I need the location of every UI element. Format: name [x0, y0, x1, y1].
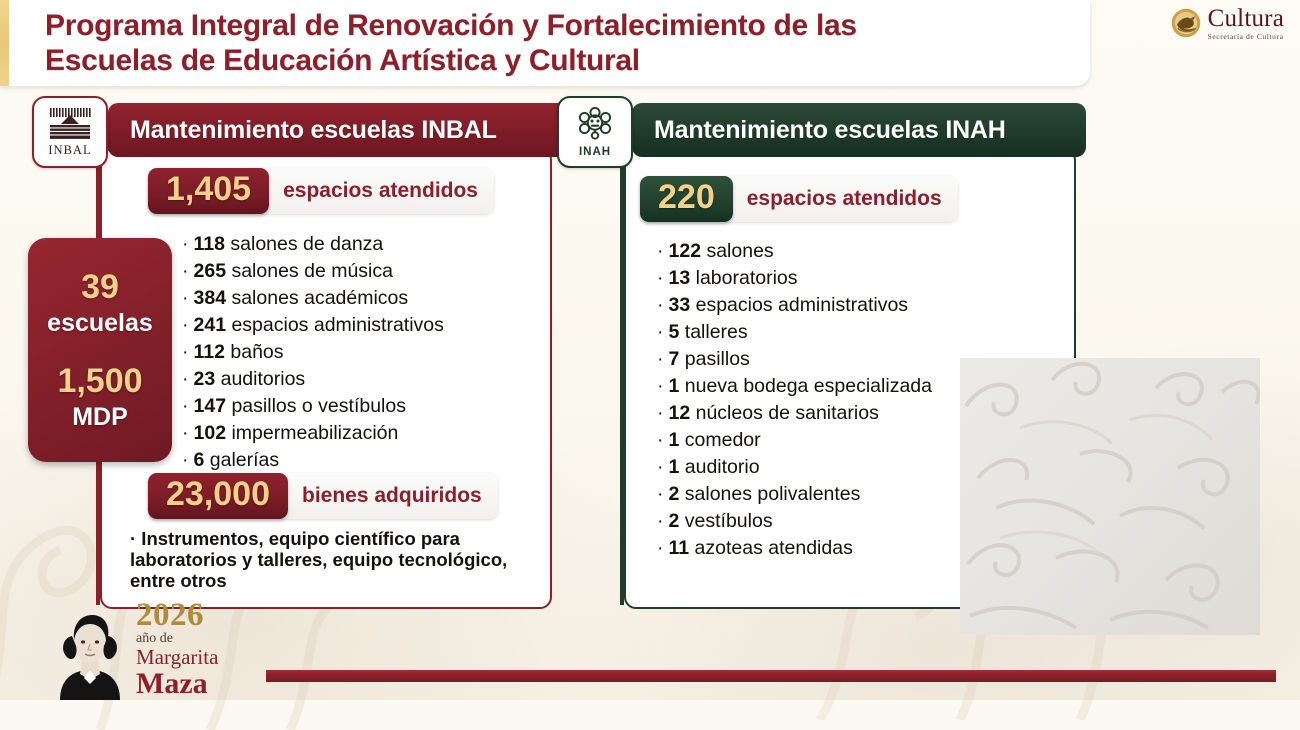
inah-logo-chip: INAH — [557, 96, 633, 168]
page-title-line2: Escuelas de Educación Artística y Cultur… — [45, 43, 857, 78]
bullet-dot-icon: · — [657, 348, 664, 370]
list-item: ·13 laboratorios — [657, 265, 932, 292]
list-item-count: 241 — [194, 314, 227, 336]
bullet-dot-icon: · — [657, 537, 664, 559]
cultura-title: Cultura — [1208, 6, 1284, 31]
margarita-maza-portrait-icon — [52, 608, 128, 700]
inbal-header-label: Mantenimiento escuelas INBAL — [130, 116, 497, 145]
list-item: ·2 vestíbulos — [657, 508, 932, 535]
list-item: ·7 pasillos — [657, 346, 932, 373]
bullet-dot-icon: · — [657, 267, 664, 289]
schools-budget-badge: 39 escuelas 1,500 MDP — [28, 238, 172, 462]
bellas-artes-building-icon — [48, 107, 92, 141]
inah-spaces-value: 220 — [640, 176, 733, 222]
list-item-text: laboratorios — [690, 267, 797, 289]
list-item-count: 265 — [194, 260, 227, 282]
list-item-text: salones académicos — [226, 287, 408, 309]
bullet-dot-icon: · — [657, 375, 664, 397]
inbal-goods-label: bienes adquiridos — [302, 484, 482, 508]
bullet-dot-icon: · — [182, 449, 189, 471]
inbal-goods-stat: 23,000 bienes adquiridos — [148, 473, 498, 519]
year-wordmark: 2026 año de Margarita Maza — [136, 599, 218, 700]
list-item: ·6 galerías — [182, 447, 444, 474]
list-item-text: pasillos — [679, 348, 749, 370]
list-item: ·1 nueva bodega especializada — [657, 373, 932, 400]
list-item: ·265 salones de música — [182, 258, 444, 285]
list-item-count: 1 — [669, 456, 680, 478]
year-of-label: año de — [136, 632, 218, 646]
inbal-logo-chip: INBAL — [32, 96, 108, 168]
list-item: ·12 núcleos de sanitarios — [657, 400, 932, 427]
list-item-count: 1 — [669, 375, 680, 397]
list-item: ·241 espacios administrativos — [182, 312, 444, 339]
footer-bar — [266, 670, 1276, 682]
inbal-note-line2: laboratorios y talleres, equipo tecnológ… — [130, 549, 550, 570]
list-item-count: 2 — [669, 483, 680, 505]
year-emblem: 2026 año de Margarita Maza — [52, 599, 218, 700]
overlay-panel — [960, 358, 1260, 635]
bullet-dot-icon: · — [182, 287, 189, 309]
list-item-count: 5 — [669, 321, 680, 343]
list-item: ·118 salones de danza — [182, 231, 444, 258]
schools-count: 39 — [81, 270, 119, 306]
list-item-text: espacios administrativos — [226, 314, 444, 336]
page-title: Programa Integral de Renovación y Fortal… — [9, 8, 875, 78]
list-item-count: 112 — [194, 341, 225, 363]
mexico-eagle-icon — [1171, 8, 1201, 38]
list-item-count: 23 — [194, 368, 216, 390]
inah-flower-glyph-icon — [575, 106, 615, 144]
list-item-count: 7 — [669, 348, 680, 370]
list-item: ·102 impermeabilización — [182, 420, 444, 447]
budget-amount: 1,500 — [57, 364, 142, 400]
list-item-count: 33 — [669, 294, 691, 316]
bullet-dot-icon: · — [182, 314, 189, 336]
list-item-text: comedor — [679, 429, 760, 451]
bullet-dot-icon: · — [182, 368, 189, 390]
bullet-dot-icon: · — [657, 483, 664, 505]
list-item-text: auditorio — [679, 456, 759, 478]
inbal-spaces-label: espacios atendidos — [283, 179, 478, 203]
budget-unit: MDP — [72, 404, 128, 430]
inbal-spaces-value: 1,405 — [148, 168, 269, 214]
list-item-text: vestíbulos — [679, 510, 772, 532]
list-item-text: auditorios — [215, 368, 305, 390]
bullet-dot-icon: · — [182, 341, 189, 363]
year-number: 2026 — [136, 599, 218, 631]
list-item: ·384 salones académicos — [182, 285, 444, 312]
list-item-count: 6 — [194, 449, 205, 471]
list-item: ·33 espacios administrativos — [657, 292, 932, 319]
list-item-text: espacios administrativos — [690, 294, 908, 316]
page-title-line1: Programa Integral de Renovación y Fortal… — [45, 8, 857, 43]
person-first-name: Margarita — [136, 647, 218, 668]
list-item-text: nueva bodega especializada — [679, 375, 932, 397]
inbal-logo-label: INBAL — [48, 143, 91, 158]
slide-canvas: Programa Integral de Renovación y Fortal… — [0, 0, 1300, 700]
list-item: ·112 baños — [182, 339, 444, 366]
list-item-text: galerías — [204, 449, 279, 471]
list-item-count: 11 — [669, 537, 690, 559]
bullet-dot-icon: · — [182, 395, 189, 417]
list-item: ·5 talleres — [657, 319, 932, 346]
list-item-text: baños — [225, 341, 284, 363]
bullet-dot-icon: · — [657, 456, 664, 478]
inbal-note: · Instrumentos, equipo científico para l… — [130, 528, 550, 591]
bullet-dot-icon: · — [657, 429, 664, 451]
list-item-count: 122 — [669, 240, 702, 262]
list-item-text: salones de música — [226, 260, 393, 282]
bullet-dot-icon: · — [657, 240, 664, 262]
list-item-text: impermeabilización — [226, 422, 398, 444]
overlay-ornament-pattern — [960, 358, 1260, 635]
cultura-wordmark: Cultura Secretaría de Cultura — [1208, 6, 1284, 41]
list-item: ·2 salones polivalentes — [657, 481, 932, 508]
inbal-bullet-list: ·118 salones de danza·265 salones de mús… — [182, 231, 444, 474]
bullet-dot-icon: · — [182, 233, 189, 255]
bullet-dot-icon: · — [182, 260, 189, 282]
list-item-count: 102 — [194, 422, 227, 444]
inah-logo-label: INAH — [579, 146, 611, 158]
inbal-spaces-stat: 1,405 espacios atendidos — [148, 168, 494, 214]
bullet-dot-icon: · — [657, 402, 664, 424]
inah-connector-line — [620, 150, 624, 605]
schools-label: escuelas — [47, 310, 153, 336]
bullet-dot-icon: · — [182, 422, 189, 444]
cultura-logo: Cultura Secretaría de Cultura — [1171, 6, 1284, 41]
inbal-header-ribbon: Mantenimiento escuelas INBAL — [108, 103, 570, 157]
list-item-text: talleres — [679, 321, 747, 343]
list-item-text: núcleos de sanitarios — [690, 402, 879, 424]
bullet-dot-icon: · — [657, 294, 664, 316]
list-item-count: 2 — [669, 510, 680, 532]
inbal-note-line3: entre otros — [130, 570, 550, 591]
list-item: ·122 salones — [657, 238, 932, 265]
bullet-dot-icon: · — [657, 510, 664, 532]
list-item-text: salones de danza — [225, 233, 383, 255]
list-item: ·1 comedor — [657, 427, 932, 454]
inbal-goods-value: 23,000 — [148, 473, 288, 519]
list-item-count: 118 — [194, 233, 225, 255]
list-item-text: azoteas atendidas — [689, 537, 853, 559]
list-item: ·23 auditorios — [182, 366, 444, 393]
inah-spaces-stat: 220 espacios atendidos — [640, 176, 958, 222]
list-item-text: pasillos o vestíbulos — [226, 395, 406, 417]
list-item-count: 13 — [669, 267, 691, 289]
slide-title-bar: Programa Integral de Renovación y Fortal… — [0, 0, 1090, 86]
list-item-count: 147 — [194, 395, 227, 417]
person-last-name: Maza — [136, 669, 218, 698]
inah-bullet-list: ·122 salones·13 laboratorios·33 espacios… — [657, 238, 932, 562]
inah-spaces-label: espacios atendidos — [747, 187, 942, 211]
list-item-text: salones polivalentes — [679, 483, 860, 505]
inah-header-ribbon: Mantenimiento escuelas INAH — [632, 103, 1086, 157]
title-accent-stripe — [0, 0, 9, 86]
inbal-note-line1: · Instrumentos, equipo científico para — [130, 528, 550, 549]
list-item: ·147 pasillos o vestíbulos — [182, 393, 444, 420]
list-item: ·11 azoteas atendidas — [657, 535, 932, 562]
list-item: ·1 auditorio — [657, 454, 932, 481]
bullet-dot-icon: · — [657, 321, 664, 343]
inah-header-label: Mantenimiento escuelas INAH — [654, 116, 1006, 145]
list-item-text: salones — [701, 240, 774, 262]
list-item-count: 384 — [194, 287, 227, 309]
list-item-count: 1 — [669, 429, 680, 451]
cultura-subtitle: Secretaría de Cultura — [1208, 33, 1284, 41]
list-item-count: 12 — [669, 402, 691, 424]
